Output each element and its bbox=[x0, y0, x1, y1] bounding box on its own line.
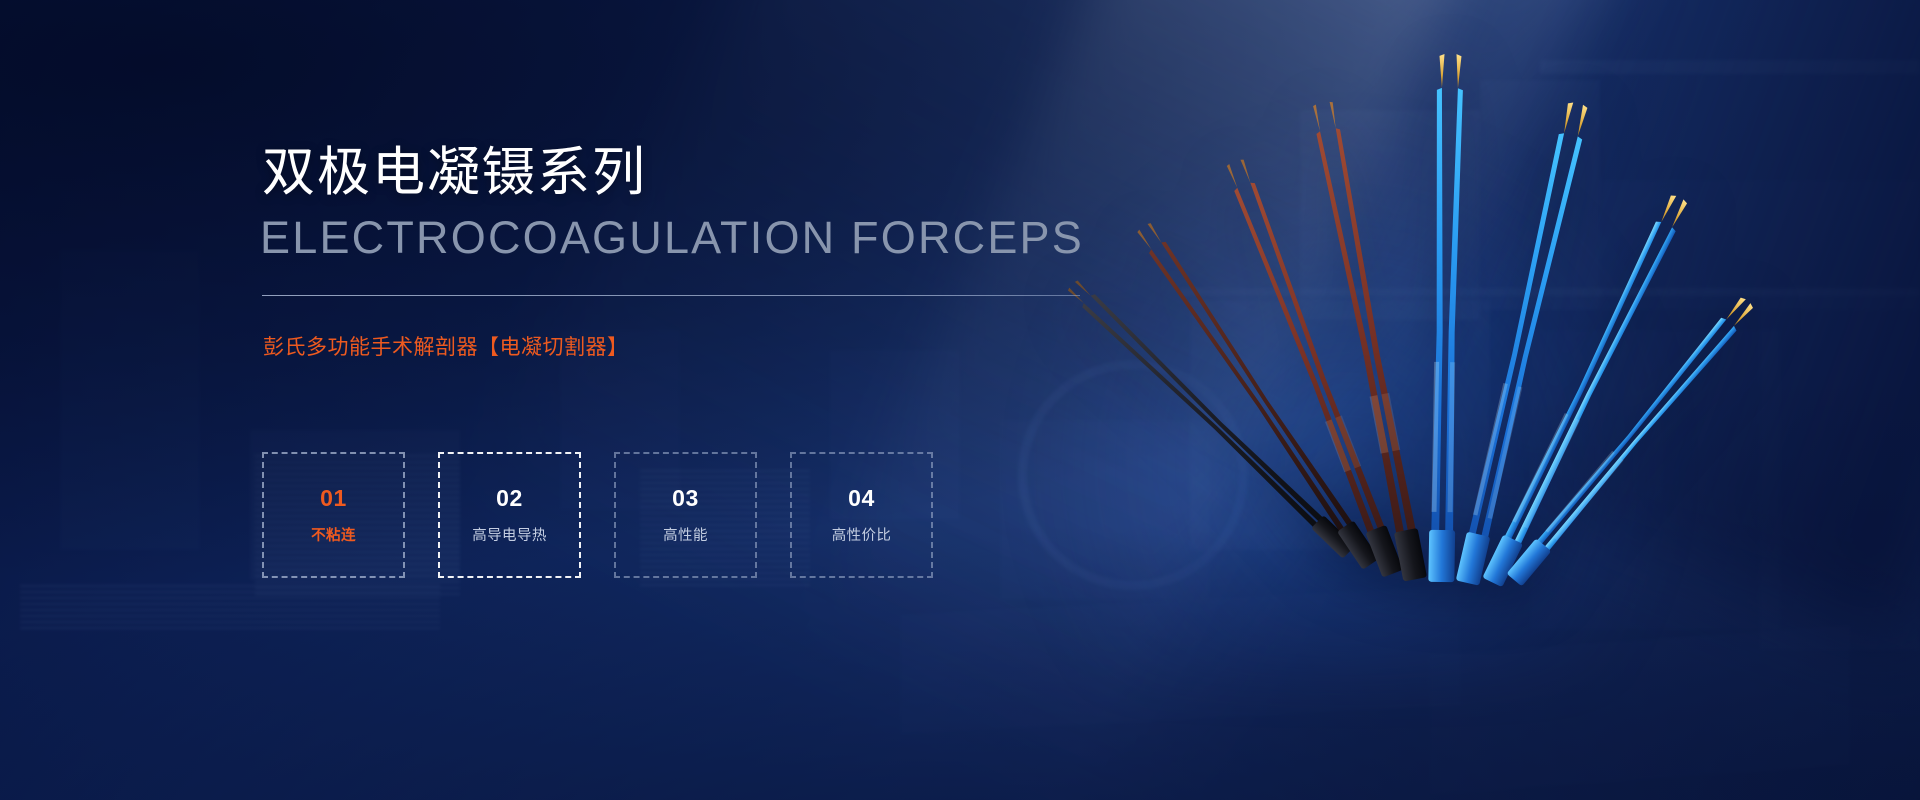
feature-card-01[interactable]: 01 不粘连 bbox=[262, 452, 405, 578]
forceps-1 bbox=[1066, 278, 1355, 558]
page-title-english: ELECTROCOAGULATION FORCEPS bbox=[260, 215, 1084, 260]
feature-number: 02 bbox=[496, 487, 523, 510]
forceps-2 bbox=[1135, 221, 1379, 570]
product-banner: 双极电凝镊系列 ELECTROCOAGULATION FORCEPS 彭氏多功能… bbox=[0, 0, 1920, 800]
feature-label: 高性能 bbox=[663, 529, 708, 544]
feature-number: 01 bbox=[320, 487, 347, 510]
feature-card-02[interactable]: 02 高导电导热 bbox=[438, 452, 581, 578]
title-divider bbox=[262, 295, 1080, 296]
feature-card-04[interactable]: 04 高性价比 bbox=[790, 452, 933, 578]
feature-number: 04 bbox=[848, 487, 875, 510]
banner-text-column: 双极电凝镊系列 ELECTROCOAGULATION FORCEPS 彭氏多功能… bbox=[262, 0, 1092, 800]
feature-label: 高性价比 bbox=[832, 529, 892, 544]
feature-card-03[interactable]: 03 高性能 bbox=[614, 452, 757, 578]
feature-label: 不粘连 bbox=[311, 529, 356, 544]
forceps-5 bbox=[1428, 54, 1463, 582]
forceps-product-image bbox=[1090, 60, 1630, 620]
feature-number: 03 bbox=[672, 487, 699, 510]
feature-list: 01 不粘连 02 高导电导热 03 高性能 04 高性价比 bbox=[262, 452, 966, 578]
page-title: 双极电凝镊系列 bbox=[262, 146, 647, 199]
feature-label: 高导电导热 bbox=[472, 529, 547, 544]
product-subtitle: 彭氏多功能手术解剖器【电凝切割器】 bbox=[263, 337, 629, 358]
